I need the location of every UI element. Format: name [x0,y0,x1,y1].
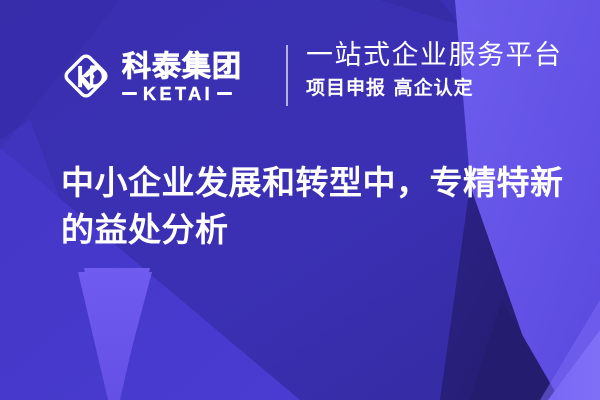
headline-line-2: 的益处分析 [61,207,561,254]
headline: 中小企业发展和转型中，专精特新 的益处分析 [61,160,561,254]
vertical-divider [286,45,288,106]
logo-wordmark: 科泰集团 KETAI [122,49,242,102]
tagline-secondary: 项目申报 高企认定 [306,78,576,100]
tagline-primary: 一站式企业服务平台 [306,41,576,71]
logo-dash-left-icon [122,92,137,96]
brand-logo[interactable]: 科泰集团 KETAI [58,40,273,112]
promo-banner: 科泰集团 KETAI 一站式企业服务平台 项目申报 高企认定 中小企业发展和转型… [0,0,600,400]
logo-company-name-en: KETAI [143,85,213,103]
logo-dash-right-icon [217,92,232,96]
tagline-block: 一站式企业服务平台 项目申报 高企认定 [306,41,576,100]
ketai-diamond-kd-monogram-icon [58,48,114,104]
logo-company-name-cn: 科泰集团 [122,51,242,81]
logo-english-row: KETAI [122,85,242,103]
headline-line-1: 中小企业发展和转型中，专精特新 [61,160,561,207]
